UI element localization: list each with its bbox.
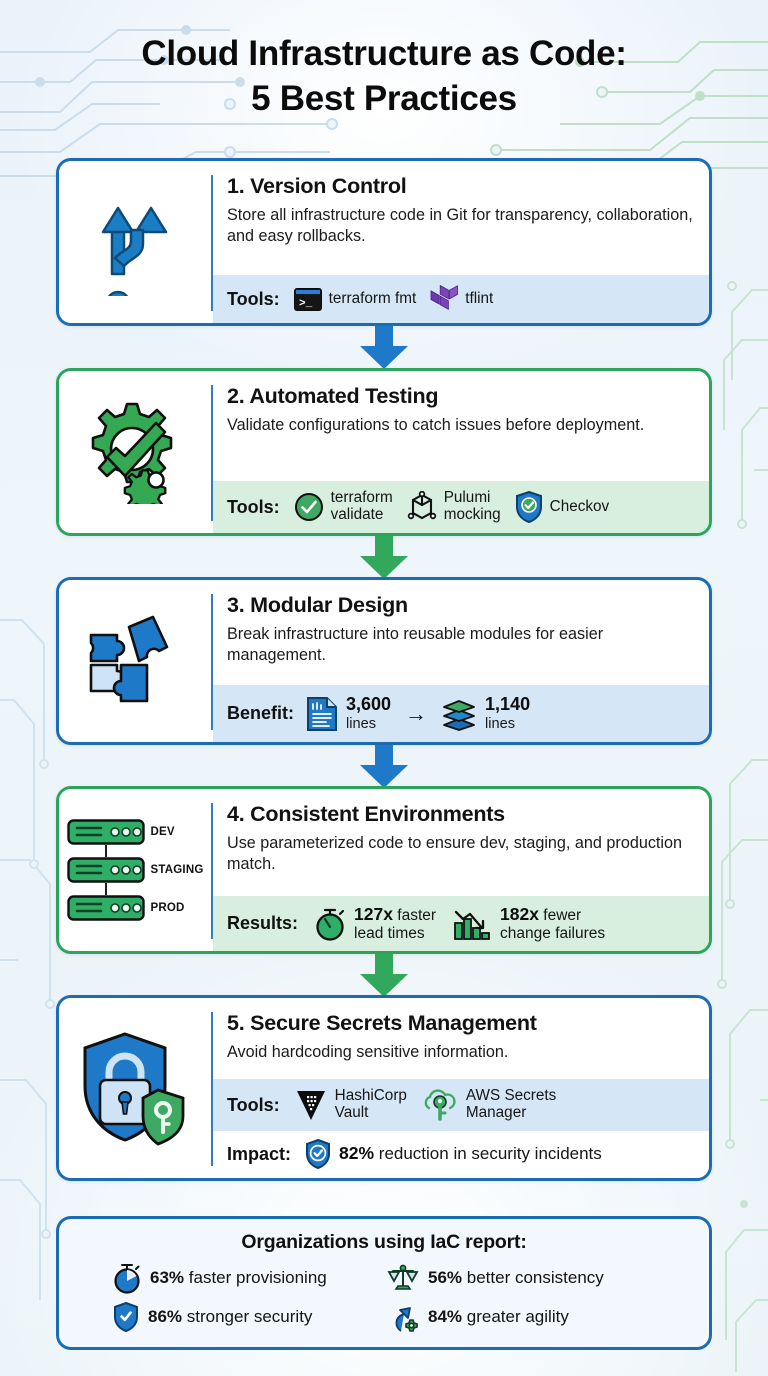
- shield-check-icon: [515, 491, 543, 523]
- result-value: 182x: [500, 904, 539, 924]
- card-2-divider: [211, 385, 213, 521]
- down-arrow-green-icon: [356, 536, 412, 580]
- card-1-description: Store all infrastructure code in Git for…: [227, 205, 693, 247]
- tool-tflint[interactable]: tflint: [430, 284, 493, 314]
- result-change-failures-text: 182x fewer change failures: [500, 905, 605, 942]
- footer-stat-label: faster provisioning: [189, 1268, 327, 1287]
- impact-text: 82% reduction in security incidents: [339, 1144, 602, 1164]
- rack-connector-line: [105, 883, 107, 895]
- server-stack-icon: DEV STAGING: [67, 819, 204, 921]
- tool-label-line1: AWS Secrets: [466, 1087, 556, 1104]
- footer-stat-label: greater agility: [467, 1307, 569, 1326]
- result-change-failures: 182x fewer change failures: [452, 905, 605, 942]
- cloud-key-icon: [421, 1088, 459, 1122]
- puzzle-pieces-icon: [83, 609, 187, 713]
- git-branch-icon: [91, 188, 179, 296]
- footer-stat-label: stronger security: [187, 1307, 313, 1326]
- result-word: faster: [397, 907, 436, 924]
- card-1-band-label: Tools:: [227, 289, 280, 310]
- benefit-before-value: 3,600: [346, 694, 391, 714]
- benefit-before: 3,600 lines: [306, 694, 391, 733]
- timer-icon: [113, 1262, 141, 1294]
- card-4-description: Use parameterized code to ensure dev, st…: [227, 833, 693, 875]
- benefit-before-text: 3,600 lines: [346, 694, 391, 733]
- arrow-gear-icon: [387, 1301, 419, 1333]
- result-sub: lead times: [354, 925, 425, 942]
- terminal-icon: >_: [294, 288, 322, 311]
- env-row-staging: STAGING: [67, 857, 204, 883]
- pulumi-cube-icon: [407, 491, 437, 523]
- page-title-line-2: 5 Best Practices: [0, 77, 768, 122]
- tool-label-line1: Pulumi: [444, 489, 491, 506]
- vault-triangle-icon: [294, 1088, 328, 1122]
- server-rack-icon: [67, 857, 145, 883]
- practice-card-1-version-control[interactable]: 1. Version Control Store all infrastruct…: [56, 158, 712, 326]
- card-5-tools-band: Tools: HashiCorp Vault: [213, 1079, 709, 1131]
- tool-tflint-label: tflint: [465, 291, 493, 308]
- gear-check-icon: [83, 400, 187, 504]
- card-1-title: 1. Version Control: [227, 174, 693, 199]
- card-5-divider: [211, 1012, 213, 1166]
- card-5-impact-band: Impact: 82% reduction in security incide…: [213, 1131, 709, 1178]
- footer-stat-value: 56%: [428, 1268, 462, 1287]
- result-word: fewer: [543, 907, 581, 924]
- footer-stat-text: 56% better consistency: [428, 1268, 604, 1288]
- benefit-after-value: 1,140: [485, 694, 530, 714]
- footer-stat-label: better consistency: [467, 1268, 604, 1287]
- env-row-dev: DEV: [67, 819, 175, 845]
- card-1-tools-band: Tools: >_ terraform fmt: [213, 275, 709, 323]
- footer-stat-text: 63% faster provisioning: [150, 1268, 327, 1288]
- card-2-icon-area: [59, 371, 211, 533]
- practice-card-2-automated-testing[interactable]: 2. Automated Testing Validate configurat…: [56, 368, 712, 536]
- card-3-icon-area: [59, 580, 211, 742]
- card-3-benefit-band: Benefit: 3,600 lines →: [213, 685, 709, 742]
- impact-value: 82%: [339, 1143, 374, 1163]
- tool-checkov[interactable]: Checkov: [515, 491, 610, 523]
- impact-metric: 82% reduction in security incidents: [305, 1139, 602, 1169]
- benefit-after: 1,140 lines: [441, 694, 530, 733]
- env-label-staging: STAGING: [151, 864, 204, 876]
- footer-stat-value: 84%: [428, 1307, 462, 1326]
- result-value: 127x: [354, 904, 393, 924]
- practice-card-4-consistent-environments[interactable]: DEV STAGING: [56, 786, 712, 954]
- practice-card-5-secure-secrets-management[interactable]: 5. Secure Secrets Management Avoid hardc…: [56, 995, 712, 1181]
- tool-label-line1: terraform: [331, 489, 393, 506]
- page-title: Cloud Infrastructure as Code: 5 Best Pra…: [0, 32, 768, 122]
- footer-summary-card: Organizations using IaC report: 63% fast…: [56, 1216, 712, 1350]
- check-circle-icon: [294, 492, 324, 522]
- footer-stat-faster-provisioning: 63% faster provisioning: [79, 1262, 381, 1294]
- result-sub: change failures: [500, 925, 605, 942]
- tool-aws-secrets-manager[interactable]: AWS Secrets Manager: [421, 1088, 556, 1122]
- rack-connector-line: [105, 845, 107, 857]
- connector-arrow-3: [0, 745, 768, 789]
- footer-stat-greater-agility: 84% greater agility: [387, 1301, 689, 1333]
- footer-stat-stronger-security: 86% stronger security: [79, 1301, 381, 1333]
- shield-lock-key-icon: [81, 1028, 189, 1148]
- tool-pulumi-mocking[interactable]: Pulumi mocking: [407, 490, 501, 524]
- card-5-title: 5. Secure Secrets Management: [227, 1011, 693, 1036]
- card-1-icon-area: [59, 161, 211, 323]
- scales-icon: [387, 1262, 419, 1294]
- tool-label-line2: validate: [331, 506, 384, 523]
- result-lead-times-text: 127x faster lead times: [354, 905, 436, 942]
- tool-terraform-validate[interactable]: terraform validate: [294, 490, 393, 524]
- tool-terraform-fmt[interactable]: >_ terraform fmt: [294, 288, 417, 311]
- footer-stat-text: 86% stronger security: [148, 1307, 312, 1327]
- footer-stat-text: 84% greater agility: [428, 1307, 569, 1327]
- tool-terraform-fmt-label: terraform fmt: [329, 291, 417, 308]
- svg-text:>_: >_: [299, 298, 313, 310]
- result-lead-times: 127x faster lead times: [314, 905, 436, 942]
- stacked-layers-icon: [441, 697, 477, 731]
- env-label-prod: PROD: [151, 902, 185, 914]
- card-2-title: 2. Automated Testing: [227, 384, 693, 409]
- benefit-after-unit: lines: [485, 716, 515, 732]
- card-4-band-label: Results:: [227, 913, 298, 934]
- connector-arrow-4: [0, 954, 768, 998]
- card-5-icon-area: [59, 998, 211, 1178]
- card-5-impact-label: Impact:: [227, 1144, 291, 1165]
- benefit-before-unit: lines: [346, 716, 376, 732]
- down-arrow-green-icon: [356, 954, 412, 998]
- down-arrow-blue-icon: [356, 326, 412, 370]
- card-3-title: 3. Modular Design: [227, 593, 693, 618]
- card-4-icon-area: DEV STAGING: [59, 789, 211, 951]
- server-rack-icon: [67, 819, 145, 845]
- connector-arrow-2: [0, 536, 768, 580]
- card-4-divider: [211, 803, 213, 939]
- tool-aws-label: AWS Secrets Manager: [466, 1088, 556, 1122]
- card-5-description: Avoid hardcoding sensitive information.: [227, 1042, 693, 1063]
- card-3-divider: [211, 594, 213, 730]
- stopwatch-icon: [314, 906, 346, 942]
- shield-check-solid-icon: [113, 1302, 139, 1332]
- infographic-page: Cloud Infrastructure as Code: 5 Best Pra…: [0, 0, 768, 1376]
- card-3-description: Break infrastructure into reusable modul…: [227, 624, 693, 666]
- footer-stat-value: 63%: [150, 1268, 184, 1287]
- down-arrow-blue-icon: [356, 745, 412, 789]
- practice-card-3-modular-design[interactable]: 3. Modular Design Break infrastructure i…: [56, 577, 712, 745]
- terraform-logo-icon: [430, 284, 458, 314]
- card-1-divider: [211, 175, 213, 311]
- footer-stat-value: 86%: [148, 1307, 182, 1326]
- benefit-arrow-icon: →: [403, 701, 429, 727]
- footer-stat-better-consistency: 56% better consistency: [387, 1262, 689, 1294]
- footer-stats-grid: 63% faster provisioning 56% better consi…: [79, 1262, 689, 1333]
- tool-label-line2: Vault: [335, 1104, 369, 1121]
- declining-chart-icon: [452, 906, 492, 942]
- card-2-tools-band: Tools: terraform validate: [213, 481, 709, 533]
- card-4-results-band: Results: 127x faster lead times: [213, 896, 709, 951]
- tool-vault-label: HashiCorp Vault: [335, 1088, 407, 1122]
- env-label-dev: DEV: [151, 826, 175, 838]
- shield-check-blue-icon: [305, 1139, 331, 1169]
- tool-label-line1: HashiCorp: [335, 1087, 407, 1104]
- server-rack-icon: [67, 895, 145, 921]
- tool-checkov-label: Checkov: [550, 499, 610, 516]
- benefit-after-text: 1,140 lines: [485, 694, 530, 733]
- tool-label-line2: Manager: [466, 1104, 526, 1121]
- card-5-band-label: Tools:: [227, 1095, 280, 1116]
- tool-pulumi-label: Pulumi mocking: [444, 490, 501, 524]
- page-title-line-1: Cloud Infrastructure as Code:: [0, 32, 768, 77]
- document-lines-icon: [306, 696, 338, 732]
- env-row-prod: PROD: [67, 895, 185, 921]
- card-2-band-label: Tools:: [227, 497, 280, 518]
- card-4-title: 4. Consistent Environments: [227, 802, 693, 827]
- tool-terraform-validate-label: terraform validate: [331, 490, 393, 524]
- impact-description: reduction in security incidents: [379, 1144, 602, 1163]
- tool-hashicorp-vault[interactable]: HashiCorp Vault: [294, 1088, 407, 1122]
- footer-title: Organizations using IaC report:: [79, 1231, 689, 1254]
- connector-arrow-1: [0, 326, 768, 370]
- tool-label-line2: mocking: [444, 506, 501, 523]
- card-2-description: Validate configurations to catch issues …: [227, 415, 693, 436]
- card-3-band-label: Benefit:: [227, 703, 294, 724]
